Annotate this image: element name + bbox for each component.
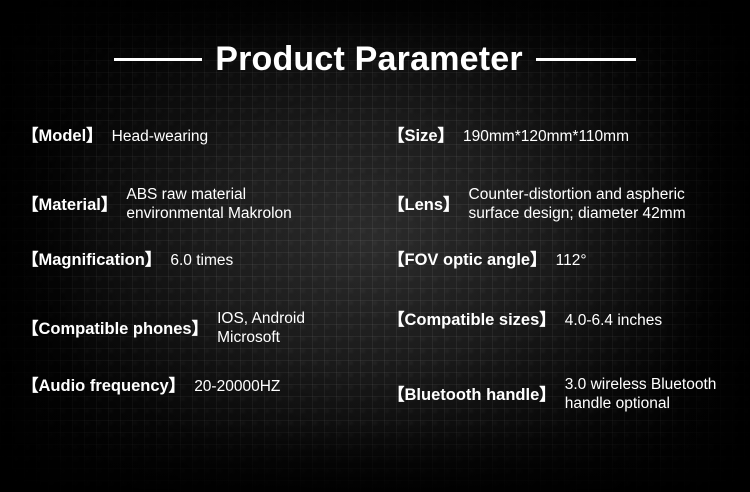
spec-label: 【Lens】 [388, 195, 460, 215]
spec-row: 【Material】 ABS raw material environmenta… [22, 186, 292, 223]
spec-label: 【Material】 [22, 195, 117, 215]
page-title-row: Product Parameter [0, 38, 750, 80]
title-rule-left [114, 58, 202, 61]
spec-row: 【FOV optic angle】 112° [388, 250, 587, 270]
spec-label: 【FOV optic angle】 [388, 250, 547, 270]
spec-row: 【Compatible phones】 IOS, Android Microso… [22, 310, 305, 347]
spec-table: 【Model】 Head-wearing 【Material】 ABS raw … [0, 118, 750, 418]
spec-value: 4.0-6.4 inches [565, 311, 662, 330]
spec-label: 【Model】 [22, 126, 103, 146]
spec-label: 【Bluetooth handle】 [388, 385, 556, 405]
spec-label: 【Magnification】 [22, 250, 161, 270]
spec-label: 【Compatible phones】 [22, 319, 208, 339]
spec-value: Counter-distortion and aspheric surface … [469, 186, 686, 223]
spec-value: 3.0 wireless Bluetooth handle optional [565, 376, 717, 413]
spec-column-right: 【Size】 190mm*120mm*110mm 【Lens】 Counter-… [388, 118, 750, 418]
spec-row: 【Lens】 Counter-distortion and aspheric s… [388, 186, 686, 223]
spec-row: 【Model】 Head-wearing [22, 126, 208, 146]
spec-value: 6.0 times [170, 251, 233, 270]
spec-row: 【Compatible sizes】 4.0-6.4 inches [388, 310, 662, 330]
spec-value: 20-20000HZ [194, 377, 280, 396]
spec-value: IOS, Android Microsoft [217, 310, 305, 347]
spec-row: 【Magnification】 6.0 times [22, 250, 233, 270]
spec-label: 【Size】 [388, 126, 454, 146]
spec-row: 【Bluetooth handle】 3.0 wireless Bluetoot… [388, 376, 716, 413]
spec-label: 【Audio frequency】 [22, 376, 185, 396]
page-title: Product Parameter [215, 38, 523, 80]
spec-column-left: 【Model】 Head-wearing 【Material】 ABS raw … [22, 118, 388, 418]
spec-row: 【Audio frequency】 20-20000HZ [22, 376, 280, 396]
spec-value: ABS raw material environmental Makrolon [126, 186, 291, 223]
spec-value: Head-wearing [112, 127, 209, 146]
spec-label: 【Compatible sizes】 [388, 310, 556, 330]
spec-row: 【Size】 190mm*120mm*110mm [388, 126, 629, 146]
product-parameter-panel: Product Parameter 【Model】 Head-wearing 【… [0, 0, 750, 492]
spec-value: 190mm*120mm*110mm [463, 127, 629, 146]
title-rule-right [536, 58, 636, 61]
spec-value: 112° [556, 251, 587, 270]
